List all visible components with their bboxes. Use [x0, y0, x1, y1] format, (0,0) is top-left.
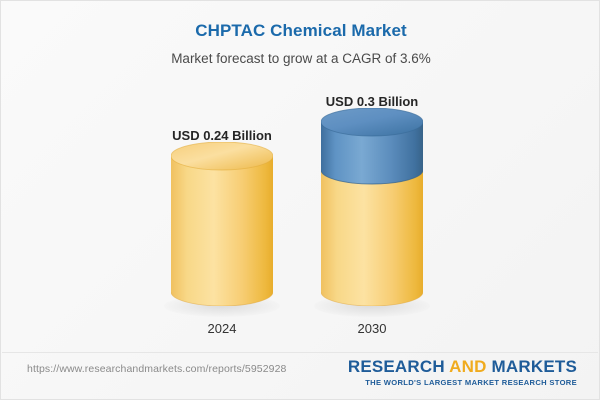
bar-value-label-2024: USD 0.24 Billion — [171, 128, 273, 143]
logo-word-research: RESEARCH — [348, 357, 445, 376]
logo-word-markets: MARKETS — [492, 357, 577, 376]
bar-2024: USD 0.24 Billion — [171, 1, 273, 349]
footer-divider — [2, 352, 598, 353]
logo-tagline: THE WORLD'S LARGEST MARKET RESEARCH STOR… — [348, 378, 577, 387]
logo-word-and: AND — [449, 357, 486, 376]
bar-category-label-2024: 2024 — [171, 321, 273, 336]
cylinder-2030 — [321, 108, 423, 306]
logo-wordmark: RESEARCH AND MARKETS — [348, 358, 577, 375]
research-and-markets-logo[interactable]: RESEARCH AND MARKETS THE WORLD'S LARGEST… — [348, 358, 577, 387]
bar-2030: USD 0.3 Billion — [321, 1, 423, 349]
chart-plot-area: USD 0.24 Billion — [1, 1, 600, 349]
cylinder-2024 — [171, 142, 273, 306]
bar-value-label-2030: USD 0.3 Billion — [321, 94, 423, 109]
bar-category-label-2030: 2030 — [321, 321, 423, 336]
market-infographic: CHPTAC Chemical Market Market forecast t… — [0, 0, 600, 400]
source-url-link[interactable]: https://www.researchandmarkets.com/repor… — [27, 363, 286, 375]
